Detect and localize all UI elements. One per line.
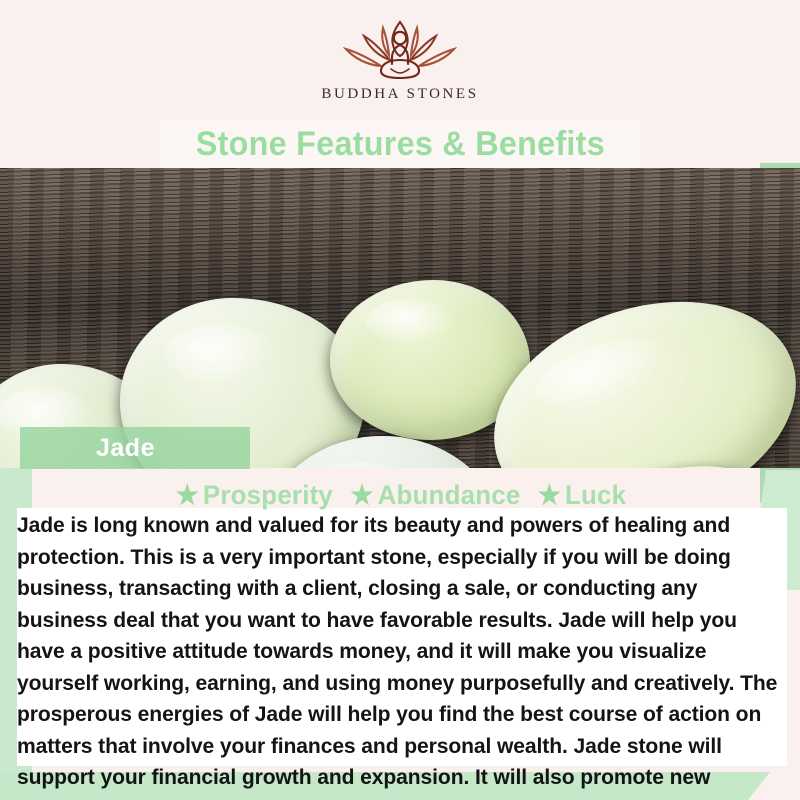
brand-header: BUDDHA STONES (0, 0, 800, 118)
stone-description: Jade is long known and valued for its be… (17, 510, 781, 800)
stone-features-card: BUDDHA STONES Stone Features & Benefits … (0, 0, 800, 800)
star-icon: ★ (350, 480, 373, 510)
star-icon: ★ (176, 480, 199, 510)
section-title-banner: Stone Features & Benefits (160, 120, 640, 168)
stone-name-label: Jade (20, 427, 250, 469)
star-icon: ★ (538, 480, 561, 510)
brand-name: BUDDHA STONES (321, 86, 478, 103)
benefit-luck: Luck (565, 480, 626, 510)
stone-name: Jade (96, 434, 155, 463)
stone-photo (0, 168, 800, 468)
benefit-prosperity: Prosperity (203, 480, 333, 510)
page-title: Stone Features & Benefits (195, 125, 604, 164)
content-area: ★Prosperity★Abundance★Luck Jade is long … (0, 468, 800, 800)
lotus-meditation-icon (336, 14, 464, 84)
benefit-abundance: Abundance (378, 480, 521, 510)
benefits-row: ★Prosperity★Abundance★Luck (16, 480, 784, 511)
